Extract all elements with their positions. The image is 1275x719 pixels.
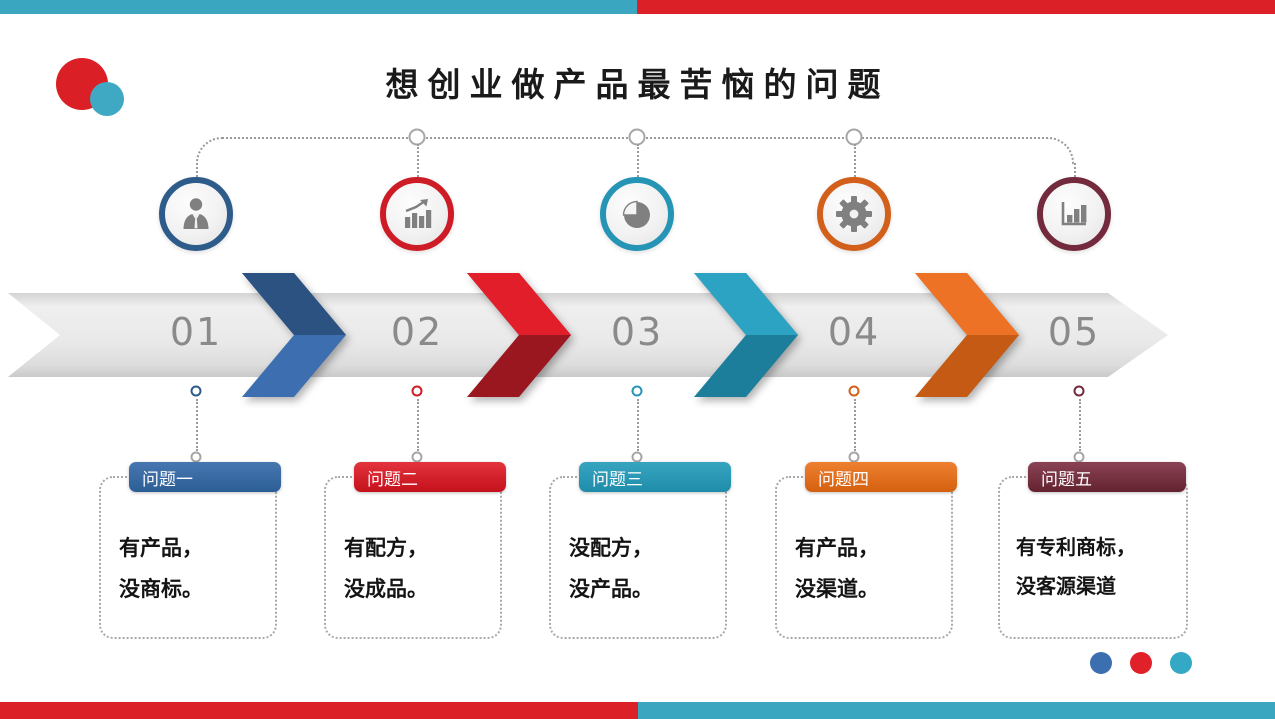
card-header-1: 问题一: [129, 462, 281, 492]
step-node-gray-3: [632, 452, 643, 463]
step-node-3: [632, 386, 643, 397]
step-node-2: [412, 386, 423, 397]
top-connector-rail: [196, 137, 1074, 138]
rail-node-4: [846, 129, 863, 146]
chevron-3: [694, 273, 798, 397]
growth-chart-icon: [398, 195, 436, 233]
step-node-gray-5: [1074, 452, 1085, 463]
bar-chart-icon: [1055, 195, 1093, 233]
step-node-4: [849, 386, 860, 397]
footer-dot-red: [1130, 652, 1152, 674]
rail-node-2: [409, 129, 426, 146]
card-body-2: 有配方， 没成品。: [344, 528, 490, 610]
footer-dot-blue: [1090, 652, 1112, 674]
rail-corner-left: [196, 137, 224, 165]
card-header-4: 问题四: [805, 462, 957, 492]
card-body-4: 有产品， 没渠道。: [795, 528, 941, 610]
chevron-1: [242, 273, 346, 397]
step-node-gray-1: [191, 452, 202, 463]
step-icon-4[interactable]: [817, 177, 891, 251]
step-drop-3: [637, 399, 639, 451]
step-number-2: 02: [391, 310, 443, 354]
step-number-3: 03: [611, 310, 663, 354]
card-body-5: 有专利商标， 没客源渠道: [1016, 528, 1176, 606]
step-number-1: 01: [170, 310, 222, 354]
card-header-5: 问题五: [1028, 462, 1186, 492]
step-number-4: 04: [828, 310, 880, 354]
page-title: 想创业做产品最苦恼的问题: [0, 58, 1275, 106]
bottom-accent-bar-left: [0, 702, 638, 719]
info-card-1[interactable]: 问题一 有产品， 没商标。: [99, 476, 277, 639]
rail-node-3: [629, 129, 646, 146]
card-body-1: 有产品， 没商标。: [119, 528, 265, 610]
step-node-1: [191, 386, 202, 397]
step-node-gray-2: [412, 452, 423, 463]
chevron-4: [915, 273, 1019, 397]
step-drop-4: [854, 399, 856, 451]
card-header-2: 问题二: [354, 462, 506, 492]
rail-drop-4: [854, 144, 856, 177]
chevron-2: [467, 273, 571, 397]
info-card-3[interactable]: 问题三 没配方， 没产品。: [549, 476, 727, 639]
step-node-5: [1074, 386, 1085, 397]
rail-drop-1: [196, 163, 198, 177]
businessman-icon: [177, 195, 215, 233]
step-icon-5[interactable]: [1037, 177, 1111, 251]
info-card-5[interactable]: 问题五 有专利商标， 没客源渠道: [998, 476, 1188, 639]
slide-canvas: 想创业做产品最苦恼的问题: [0, 0, 1275, 719]
step-icon-2[interactable]: [380, 177, 454, 251]
rail-drop-2: [417, 144, 419, 177]
step-drop-1: [196, 399, 198, 451]
top-accent-bar-left: [0, 0, 637, 14]
card-header-3: 问题三: [579, 462, 731, 492]
pie-chart-icon: [618, 195, 656, 233]
step-drop-5: [1079, 399, 1081, 451]
step-drop-2: [417, 399, 419, 451]
step-icon-1[interactable]: [159, 177, 233, 251]
bottom-accent-bar-right: [638, 702, 1275, 719]
card-body-3: 没配方， 没产品。: [569, 528, 715, 610]
rail-corner-right: [1046, 137, 1074, 165]
info-card-2[interactable]: 问题二 有配方， 没成品。: [324, 476, 502, 639]
rail-drop-3: [637, 144, 639, 177]
step-number-5: 05: [1048, 310, 1100, 354]
footer-dot-teal: [1170, 652, 1192, 674]
footer-dots: [1090, 652, 1192, 674]
rail-drop-5: [1074, 163, 1076, 177]
step-icon-3[interactable]: [600, 177, 674, 251]
info-card-4[interactable]: 问题四 有产品， 没渠道。: [775, 476, 953, 639]
top-accent-bar-right: [637, 0, 1275, 14]
gear-icon: [834, 194, 874, 234]
step-node-gray-4: [849, 452, 860, 463]
